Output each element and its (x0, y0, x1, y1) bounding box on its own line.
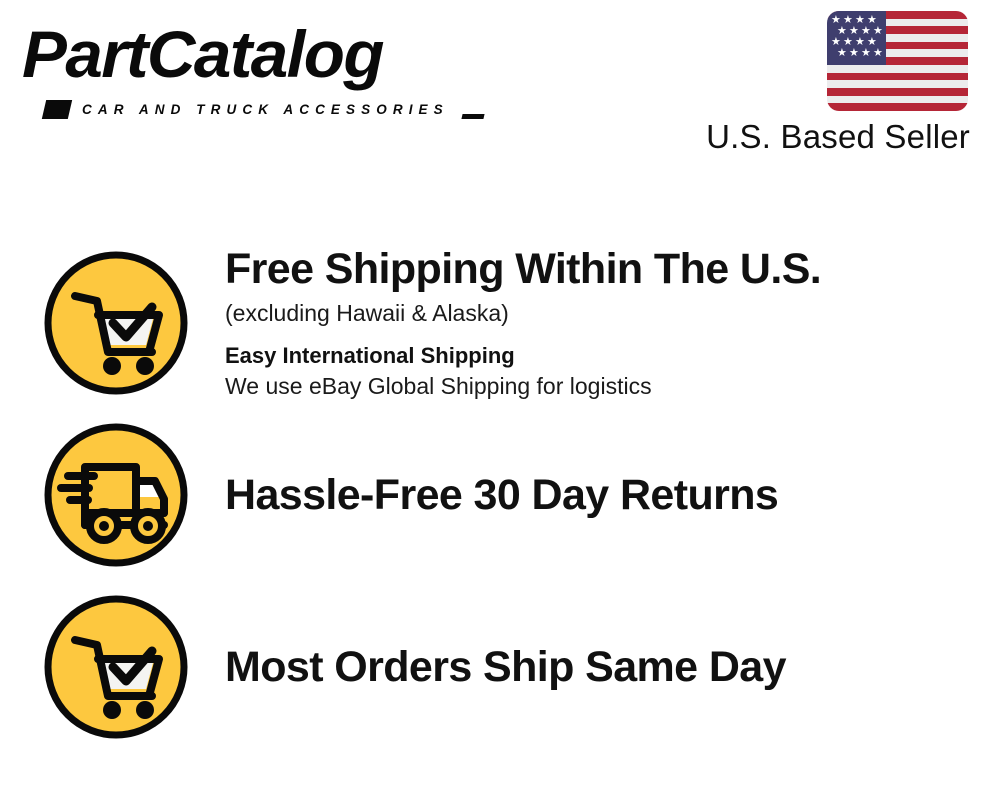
flag-star (843, 16, 852, 25)
feature-row: Most Orders Ship Same Day (0, 593, 1000, 741)
partcatalog-logo[interactable]: PartCatalog CAR AND TRUCK ACCESSORIES (22, 18, 492, 118)
us-flag-icon (827, 11, 968, 111)
logo-accent-bar (42, 100, 72, 119)
feature-text: Free Shipping Within The U.S. (excluding… (225, 244, 1000, 402)
feature-subtitle-strong: Easy International Shipping (225, 340, 980, 371)
feature-subtitle: (excluding Hawaii & Alaska) (225, 297, 980, 329)
logo-wordmark: PartCatalog (22, 18, 383, 90)
logo-tagline: CAR AND TRUCK ACCESSORIES (82, 102, 449, 117)
flag-stripe (827, 80, 968, 88)
flag-star (873, 49, 882, 58)
feature-row: Free Shipping Within The U.S. (excluding… (0, 249, 1000, 397)
flag-star (861, 49, 870, 58)
flag-stripe (827, 88, 968, 96)
feature-title: Hassle-Free 30 Day Returns (225, 470, 980, 520)
flag-stripe (827, 96, 968, 104)
flag-star (861, 27, 870, 36)
feature-title: Most Orders Ship Same Day (225, 642, 980, 692)
shopping-cart-check-icon (42, 593, 190, 741)
feature-text: Most Orders Ship Same Day (225, 642, 1000, 692)
feature-title: Free Shipping Within The U.S. (225, 244, 980, 294)
shopping-cart-check-icon (42, 249, 190, 397)
us-based-seller-badge: U.S. Based Seller (714, 10, 984, 160)
flag-star (867, 38, 876, 47)
flag-star (837, 27, 846, 36)
delivery-truck-icon (42, 421, 190, 569)
flag-star (831, 38, 840, 47)
banner-header: PartCatalog CAR AND TRUCK ACCESSORIES (0, 0, 1000, 175)
flag-star (843, 38, 852, 47)
logo-accent-bar-right (461, 114, 484, 119)
feature-text: Hassle-Free 30 Day Returns (225, 470, 1000, 520)
flag-canton (827, 11, 886, 65)
flag-star (831, 16, 840, 25)
seller-label: U.S. Based Seller (706, 118, 970, 156)
flag-stripe (827, 103, 968, 111)
flag-stripe (827, 73, 968, 81)
feature-subtitle-plain: We use eBay Global Shipping for logistic… (225, 371, 980, 402)
flag-star (867, 16, 876, 25)
flag-star (837, 49, 846, 58)
flag-star (873, 27, 882, 36)
feature-list: Free Shipping Within The U.S. (excluding… (0, 175, 1000, 800)
flag-star (855, 38, 864, 47)
flag-star (855, 16, 864, 25)
feature-row: Hassle-Free 30 Day Returns (0, 421, 1000, 569)
flag-stripe (827, 65, 968, 73)
flag-star (849, 49, 858, 58)
flag-star (849, 27, 858, 36)
